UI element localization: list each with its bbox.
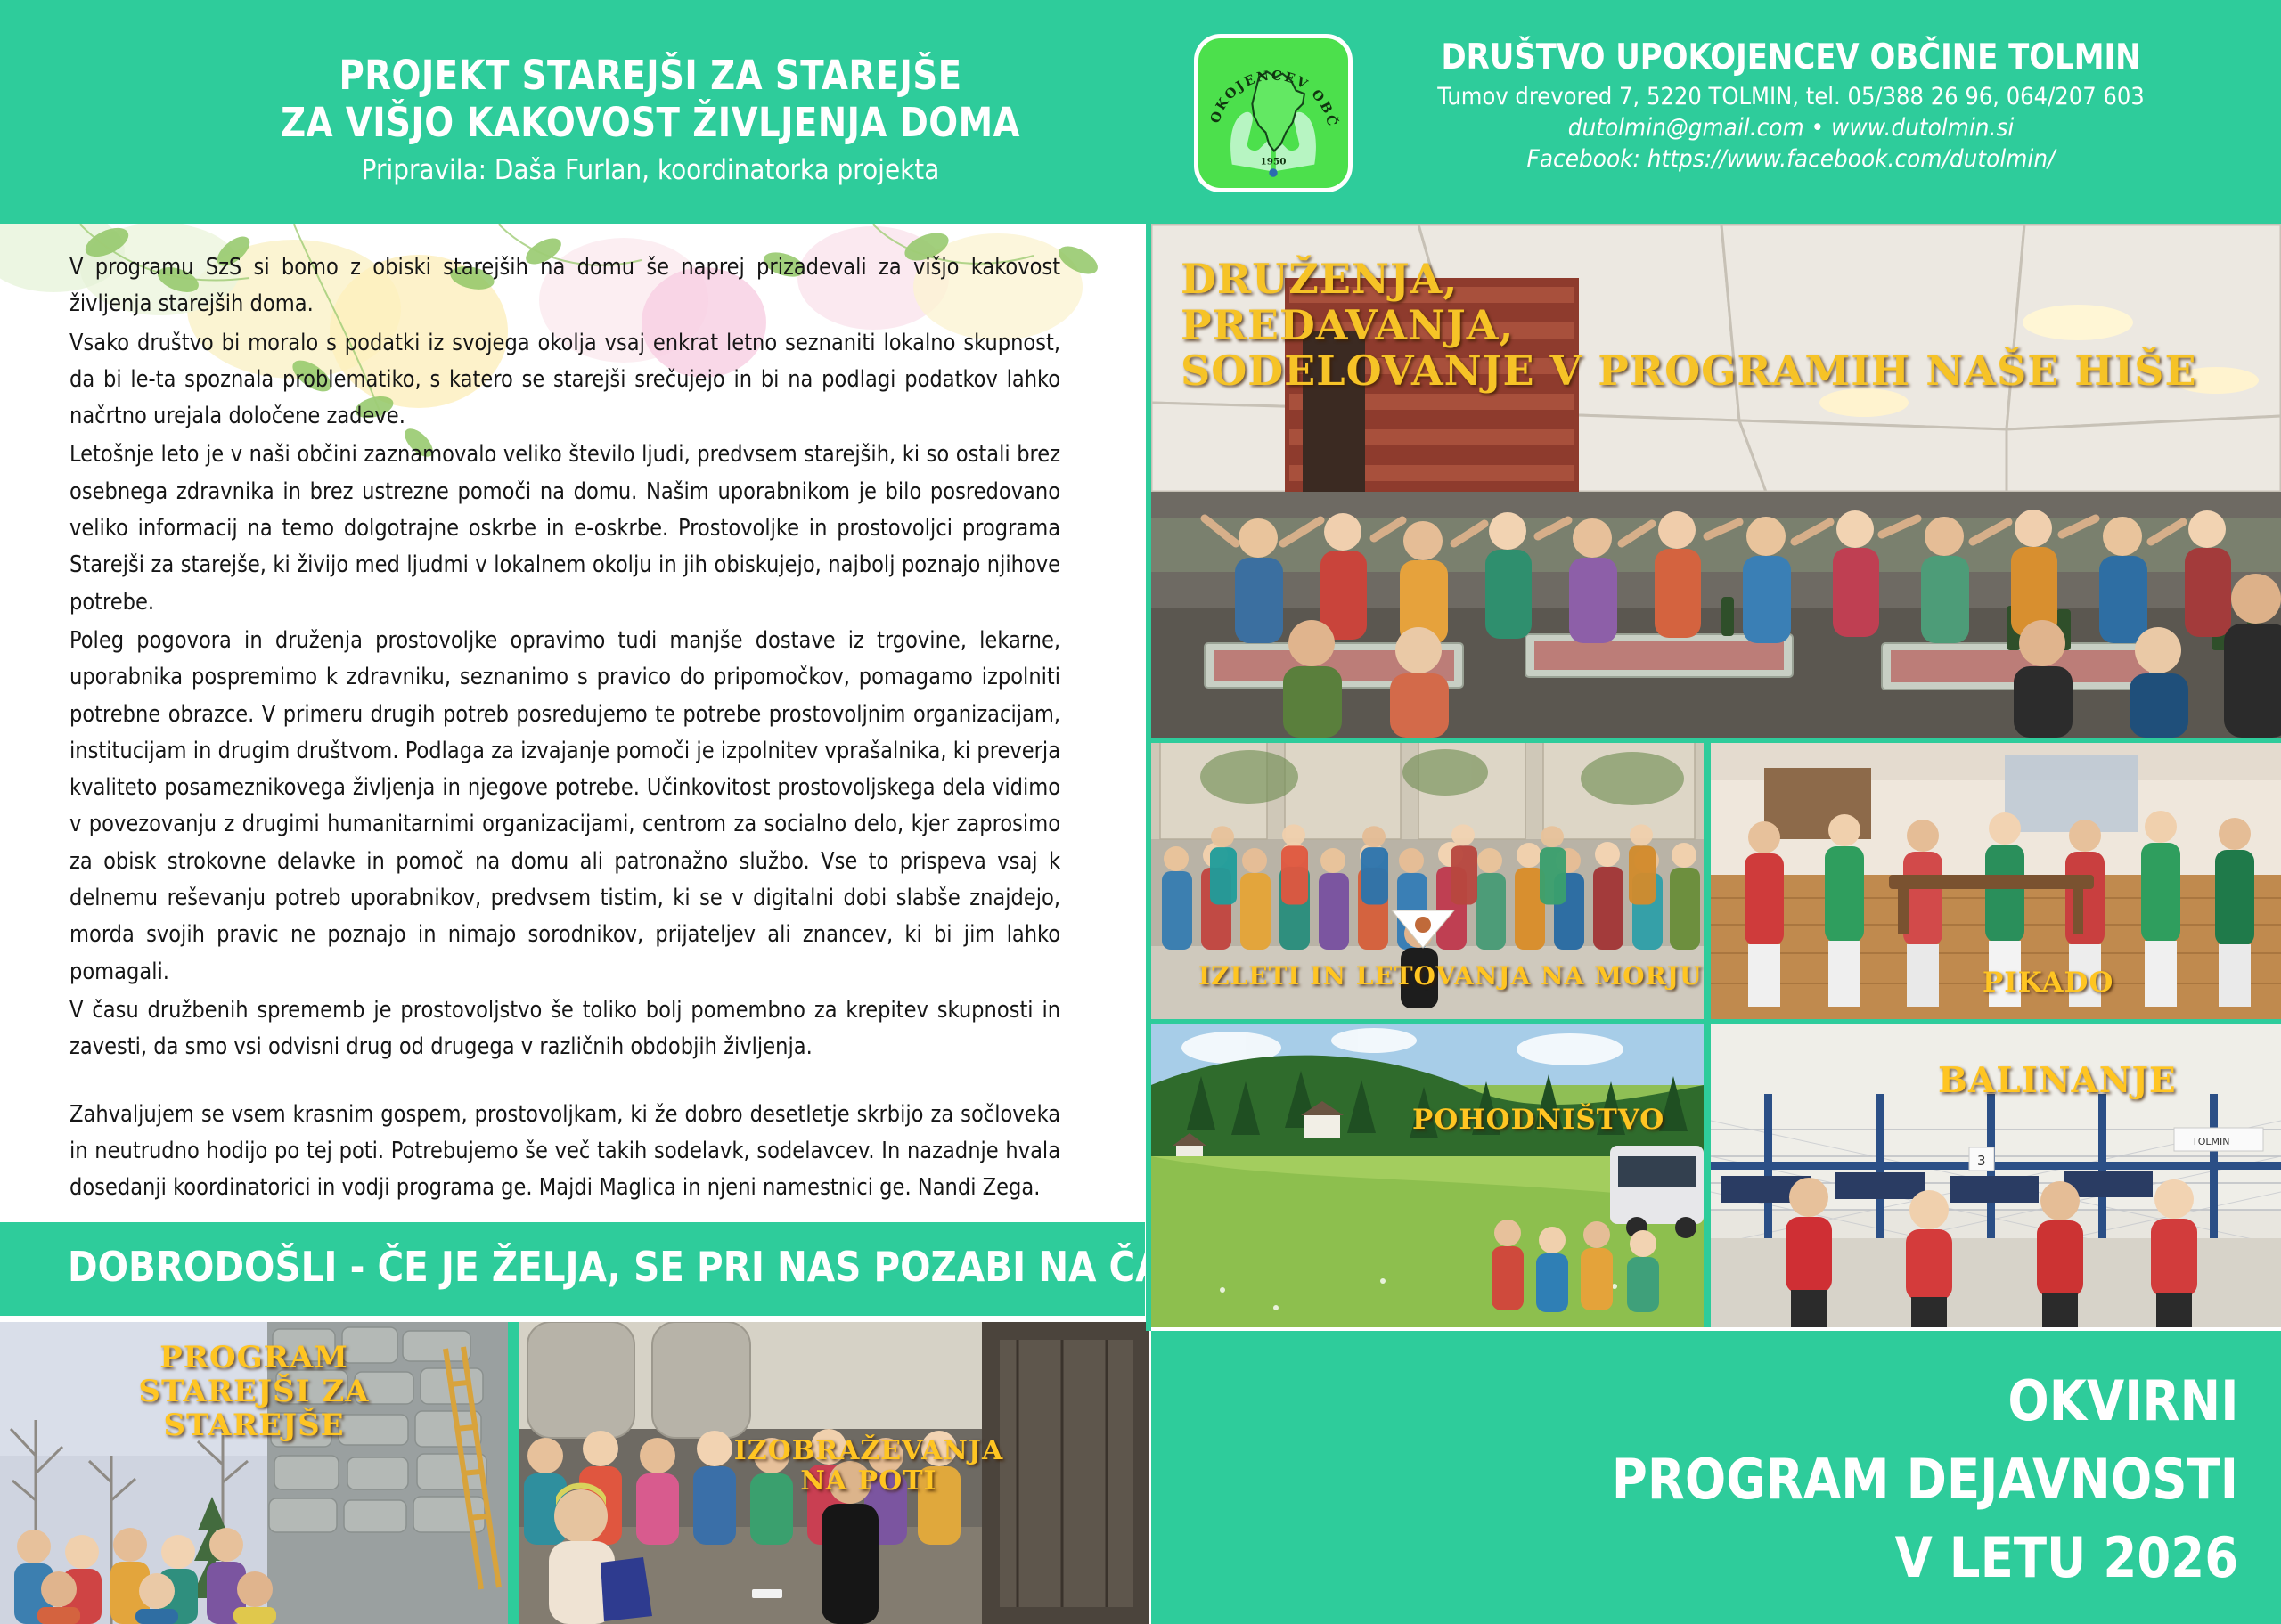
caption-tent-line1: DRUŽENJA, bbox=[1181, 257, 2268, 303]
caption-pohodnistvo: POHODNIŠTVO bbox=[1412, 1105, 1664, 1136]
svg-text:1950: 1950 bbox=[1261, 157, 1287, 167]
caption-izleti: IZLETI IN LETOVANJA NA MORJU bbox=[1198, 962, 1702, 990]
bottom-title-line1: OKVIRNI bbox=[2007, 1368, 2238, 1433]
logo-plate: DRUŠTVO UPOKOJENCEV OBČINE TOLMIN 1950 bbox=[1194, 34, 1353, 192]
divider-vertical-main bbox=[1146, 224, 1151, 1331]
divider-horizontal-top-photos bbox=[1151, 738, 2281, 743]
paragraph-2: Vsako društvo bi moralo s podatki iz svo… bbox=[69, 325, 1060, 436]
paragraph-6: Zahvaljujem se vsem krasnim gospem, pros… bbox=[69, 1097, 1060, 1207]
organization-logo: DRUŠTVO UPOKOJENCEV OBČINE TOLMIN 1950 bbox=[1194, 34, 1353, 192]
logo-emblem-icon: DRUŠTVO UPOKOJENCEV OBČINE TOLMIN 1950 bbox=[1198, 38, 1348, 188]
welcome-banner-text: DOBRODOŠLI - ČE JE ŽELJA, SE PRI NAS POZ… bbox=[68, 1243, 1206, 1291]
poster-page: PROJEKT STAREJŠI ZA STAREJŠE ZA VIŠJO KA… bbox=[0, 0, 2281, 1624]
photo-hiking bbox=[1151, 1023, 1704, 1327]
caption-program-line2: STAREJŠI ZA STAREJŠE bbox=[45, 1375, 463, 1442]
paragraph-5: V času družbenih sprememb je prostovoljs… bbox=[69, 992, 1060, 1066]
organization-contact-block: DRUŠTVO UPOKOJENCEV OBČINE TOLMIN Tumov … bbox=[1372, 37, 2210, 173]
project-title-block: PROJEKT STAREJŠI ZA STAREJŠE ZA VIŠJO KA… bbox=[151, 52, 1149, 186]
caption-pikado: PIKADO bbox=[1983, 967, 2113, 999]
article-copy: V programu SzS si bomo z obiski starejši… bbox=[0, 224, 1145, 1206]
svg-text:3: 3 bbox=[1977, 1153, 1986, 1169]
organization-name: DRUŠTVO UPOKOJENCEV OBČINE TOLMIN bbox=[1427, 37, 2155, 78]
caption-program-line1: PROGRAM bbox=[45, 1341, 463, 1375]
caption-tent-line2: PREDAVANJA, bbox=[1181, 303, 2268, 349]
project-prepared-by: Pripravila: Daša Furlan, koordinatorka p… bbox=[201, 154, 1100, 186]
article-text-column: V programu SzS si bomo z obiski starejši… bbox=[0, 224, 1145, 1222]
divider-vertical-bottom bbox=[508, 1322, 519, 1624]
project-title-line1: PROJEKT STAREJŠI ZA STAREJŠE bbox=[221, 52, 1079, 99]
divider-vertical-photos bbox=[1704, 741, 1711, 1327]
caption-tent-line3: SODELOVANJE V PROGRAMIH NAŠE HIŠE bbox=[1181, 348, 2268, 395]
caption-tent-gathering: DRUŽENJA, PREDAVANJA, SODELOVANJE V PROG… bbox=[1181, 257, 2268, 395]
welcome-banner: DOBRODOŠLI - ČE JE ŽELJA, SE PRI NAS POZ… bbox=[0, 1222, 1145, 1316]
page-header: PROJEKT STAREJŠI ZA STAREJŠE ZA VIŠJO KA… bbox=[0, 0, 2281, 224]
organization-address: Tumov drevored 7, 5220 TOLMIN, tel. 05/3… bbox=[1414, 83, 2168, 110]
organization-email-web[interactable]: dutolmin@gmail.com • www.dutolmin.si bbox=[1406, 114, 2177, 142]
caption-balinanje: BALINANJE bbox=[1938, 1062, 2177, 1101]
paragraph-3: Letošnje leto je v naši občini zaznamova… bbox=[69, 437, 1060, 620]
caption-izobrazevanja: IZOBRAŽEVANJA NA POTI bbox=[677, 1436, 1060, 1496]
bottom-title-line3: V LETU 2026 bbox=[1894, 1525, 2238, 1590]
caption-izobrazevanja-line1: IZOBRAŽEVANJA bbox=[677, 1436, 1060, 1466]
bottom-title-block: OKVIRNI PROGRAM DEJAVNOSTI V LETU 2026 bbox=[1151, 1331, 2281, 1624]
organization-facebook[interactable]: Facebook: https://www.facebook.com/dutol… bbox=[1406, 145, 2177, 173]
divider-horizontal-photos bbox=[1151, 1019, 2281, 1024]
bottom-title-line2: PROGRAM DEJAVNOSTI bbox=[1612, 1447, 2238, 1512]
paragraph-4: Poleg pogovora in druženja prostovoljke … bbox=[69, 623, 1060, 991]
caption-program: PROGRAM STAREJŠI ZA STAREJŠE bbox=[45, 1341, 463, 1442]
caption-izobrazevanja-line2: NA POTI bbox=[677, 1466, 1060, 1497]
project-title-line2: ZA VIŠJO KAKOVOST ŽIVLJENJA DOMA bbox=[221, 99, 1079, 146]
svg-text:TOLMIN: TOLMIN bbox=[2191, 1136, 2229, 1147]
paragraph-1: V programu SzS si bomo z obiski starejši… bbox=[69, 249, 1060, 323]
photo-hiking-image bbox=[1151, 1023, 1704, 1327]
